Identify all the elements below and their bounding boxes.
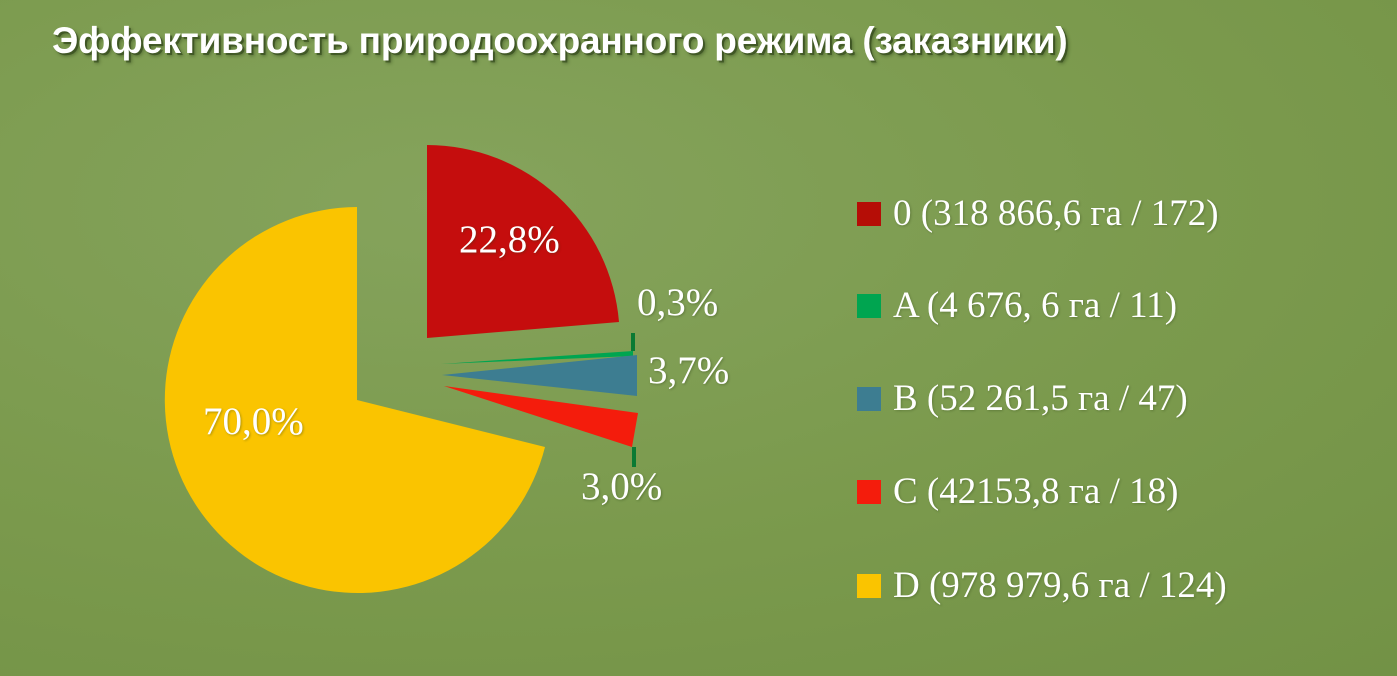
pie-chart-svg	[0, 0, 830, 676]
legend-item-d[interactable]: D (978 979,6 га / 124)	[857, 567, 1227, 605]
legend-item-a[interactable]: A (4 676, 6 га / 11)	[857, 287, 1177, 325]
legend-swatch-icon	[857, 202, 881, 226]
legend-item-label: A (4 676, 6 га / 11)	[893, 287, 1177, 325]
legend-item-label: C (42153,8 га / 18)	[893, 473, 1178, 511]
pie-label-c: 3,0%	[581, 467, 662, 507]
legend-swatch-icon	[857, 294, 881, 318]
legend-swatch-icon	[857, 387, 881, 411]
legend-item-b[interactable]: B (52 261,5 га / 47)	[857, 380, 1188, 418]
slide-canvas: Эффективность природоохранного режима (з…	[0, 0, 1397, 676]
legend-swatch-icon	[857, 480, 881, 504]
pie-label-d: 70,0%	[203, 402, 304, 442]
legend-item-c[interactable]: C (42153,8 га / 18)	[857, 473, 1178, 511]
legend-item-label: 0 (318 866,6 га / 172)	[893, 195, 1219, 233]
pie-chart: 22,8% 0,3% 3,7% 3,0% 70,0%	[0, 0, 830, 676]
legend-item-0[interactable]: 0 (318 866,6 га / 172)	[857, 195, 1219, 233]
pie-label-a: 0,3%	[637, 283, 718, 323]
pie-label-zero: 22,8%	[459, 220, 560, 260]
pie-label-b: 3,7%	[648, 351, 729, 391]
chart-legend: 0 (318 866,6 га / 172) A (4 676, 6 га / …	[857, 195, 1377, 615]
legend-item-label: D (978 979,6 га / 124)	[893, 567, 1227, 605]
legend-item-label: B (52 261,5 га / 47)	[893, 380, 1188, 418]
legend-swatch-icon	[857, 574, 881, 598]
